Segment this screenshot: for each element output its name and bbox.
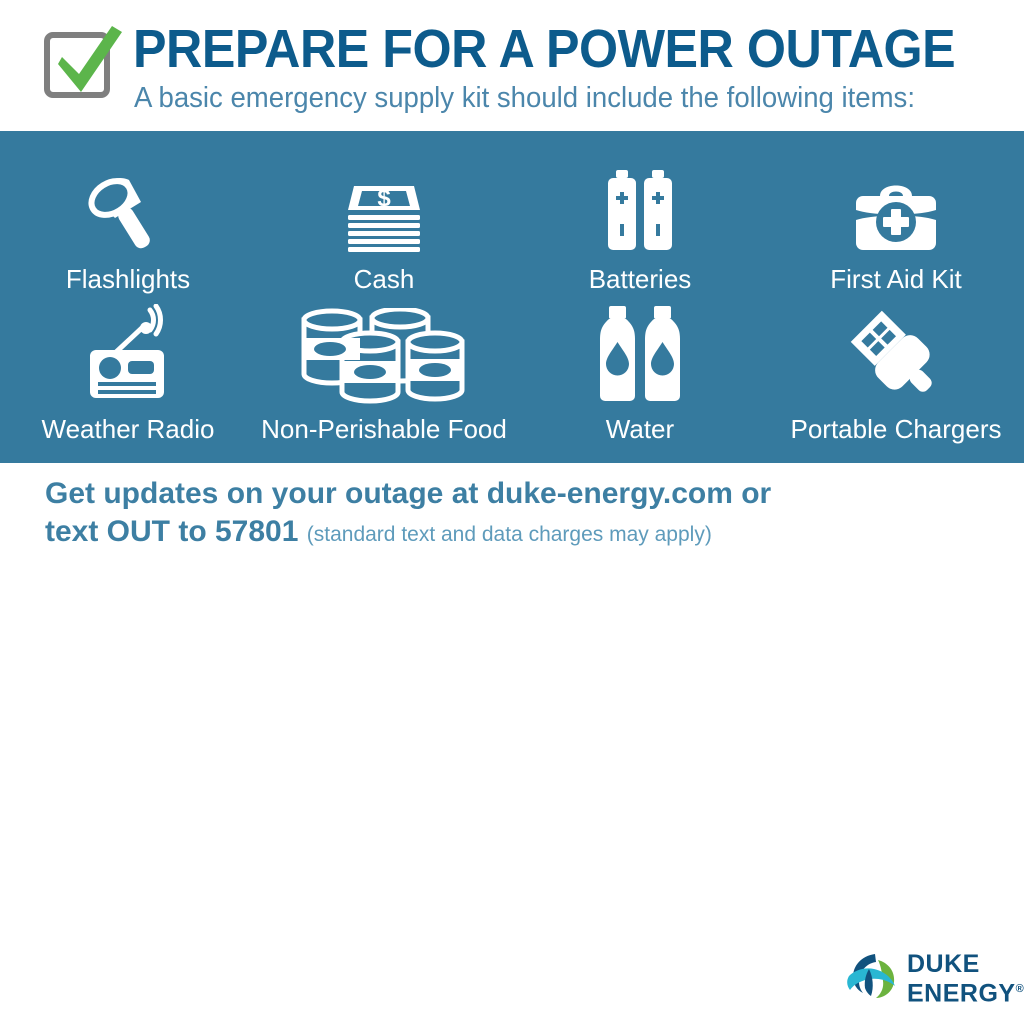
duke-logo-mark-icon — [845, 950, 903, 1006]
supply-item-flashlights: Flashlights — [0, 149, 256, 294]
item-label: Cash — [354, 264, 415, 294]
supply-item-water: Water — [512, 294, 768, 444]
batteries-icon — [604, 162, 676, 254]
item-label: Weather Radio — [42, 414, 215, 444]
page-title: PREPARE FOR A POWER OUTAGE — [133, 21, 955, 77]
svg-text:$: $ — [377, 185, 391, 212]
supply-item-cash: $ Cash — [256, 149, 512, 294]
footer-message: Get updates on your outage at duke-energ… — [45, 475, 745, 554]
footer-fine-print: (standard text and data charges may appl… — [307, 523, 712, 546]
item-label: Flashlights — [66, 264, 190, 294]
item-label: Water — [606, 414, 674, 444]
footer: Get updates on your outage at duke-energ… — [0, 463, 1024, 568]
green-check-icon — [46, 24, 128, 104]
duke-energy-logo-icon: DUKE ENERGY® — [845, 950, 1005, 1008]
checkbox-checkmark-icon — [44, 24, 122, 102]
supply-row-2: Weather Radio — [0, 294, 1024, 444]
item-label: Portable Chargers — [791, 414, 1002, 444]
supply-item-portable-chargers: Portable Chargers — [768, 294, 1024, 444]
supply-item-weather-radio: Weather Radio — [0, 294, 256, 444]
flashlight-icon — [85, 162, 171, 254]
supply-item-batteries: Batteries — [512, 149, 768, 294]
footer-text-keyword: text OUT to 57801 — [45, 515, 298, 548]
registered-mark: ® — [1016, 983, 1024, 995]
usb-charger-icon — [844, 312, 948, 404]
canned-food-icon — [296, 312, 472, 404]
item-label: First Aid Kit — [830, 264, 961, 294]
item-label: Batteries — [589, 264, 692, 294]
supply-row-1: Flashlights $ — [0, 149, 1024, 294]
first-aid-kit-icon — [850, 162, 942, 254]
supply-item-first-aid-kit: First Aid Kit — [768, 149, 1024, 294]
supply-item-non-perishable-food: Non-Perishable Food — [256, 294, 512, 444]
weather-radio-icon — [78, 312, 178, 404]
brand-line-2: ENERGY® — [907, 977, 1024, 1006]
page-subtitle: A basic emergency supply kit should incl… — [134, 82, 915, 114]
footer-line-2: text OUT to 57801 (standard text and dat… — [45, 513, 745, 554]
brand-line-1: DUKE — [907, 952, 1024, 977]
cash-stack-icon: $ — [342, 162, 426, 254]
footer-line-1: Get updates on your outage at duke-energ… — [45, 475, 745, 513]
duke-energy-wordmark: DUKE ENERGY® — [907, 952, 1024, 1006]
header: PREPARE FOR A POWER OUTAGE A basic emerg… — [0, 0, 1024, 131]
supply-kit-panel: Flashlights $ — [0, 131, 1024, 463]
item-label: Non-Perishable Food — [261, 414, 507, 444]
water-bottles-icon — [597, 312, 683, 404]
infographic-page: PREPARE FOR A POWER OUTAGE A basic emerg… — [0, 0, 1024, 568]
